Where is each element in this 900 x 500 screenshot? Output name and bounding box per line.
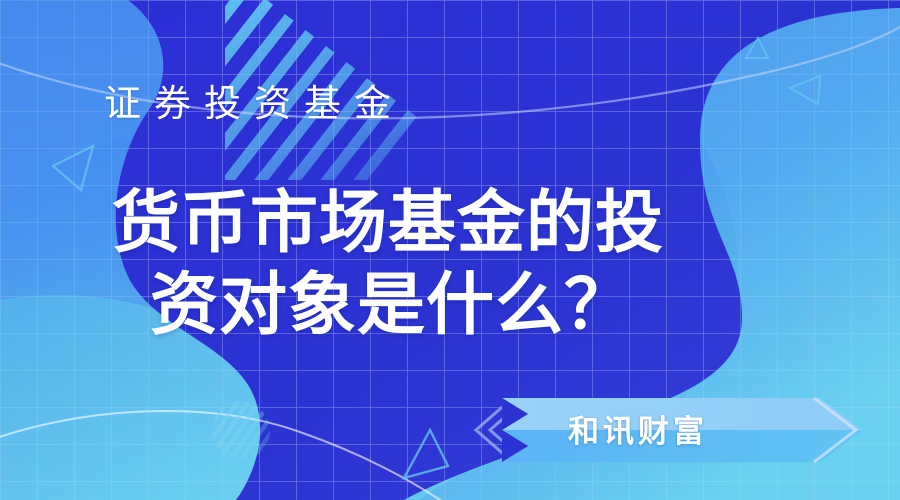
headline: 货币市场基金的投 资对象是什么？ — [112, 182, 752, 346]
headline-line-2: 资对象是什么？ — [112, 264, 752, 346]
text-content: 证券投资基金 货币市场基金的投 资对象是什么？ — [0, 0, 900, 500]
poster-canvas: 和讯财富 证券投资基金 货币市场基金的投 资对象是什么？ — [0, 0, 900, 500]
headline-line-1: 货币市场基金的投 — [112, 182, 752, 264]
brand-label: 和讯财富 — [568, 410, 708, 454]
category-label: 证券投资基金 — [104, 80, 404, 128]
